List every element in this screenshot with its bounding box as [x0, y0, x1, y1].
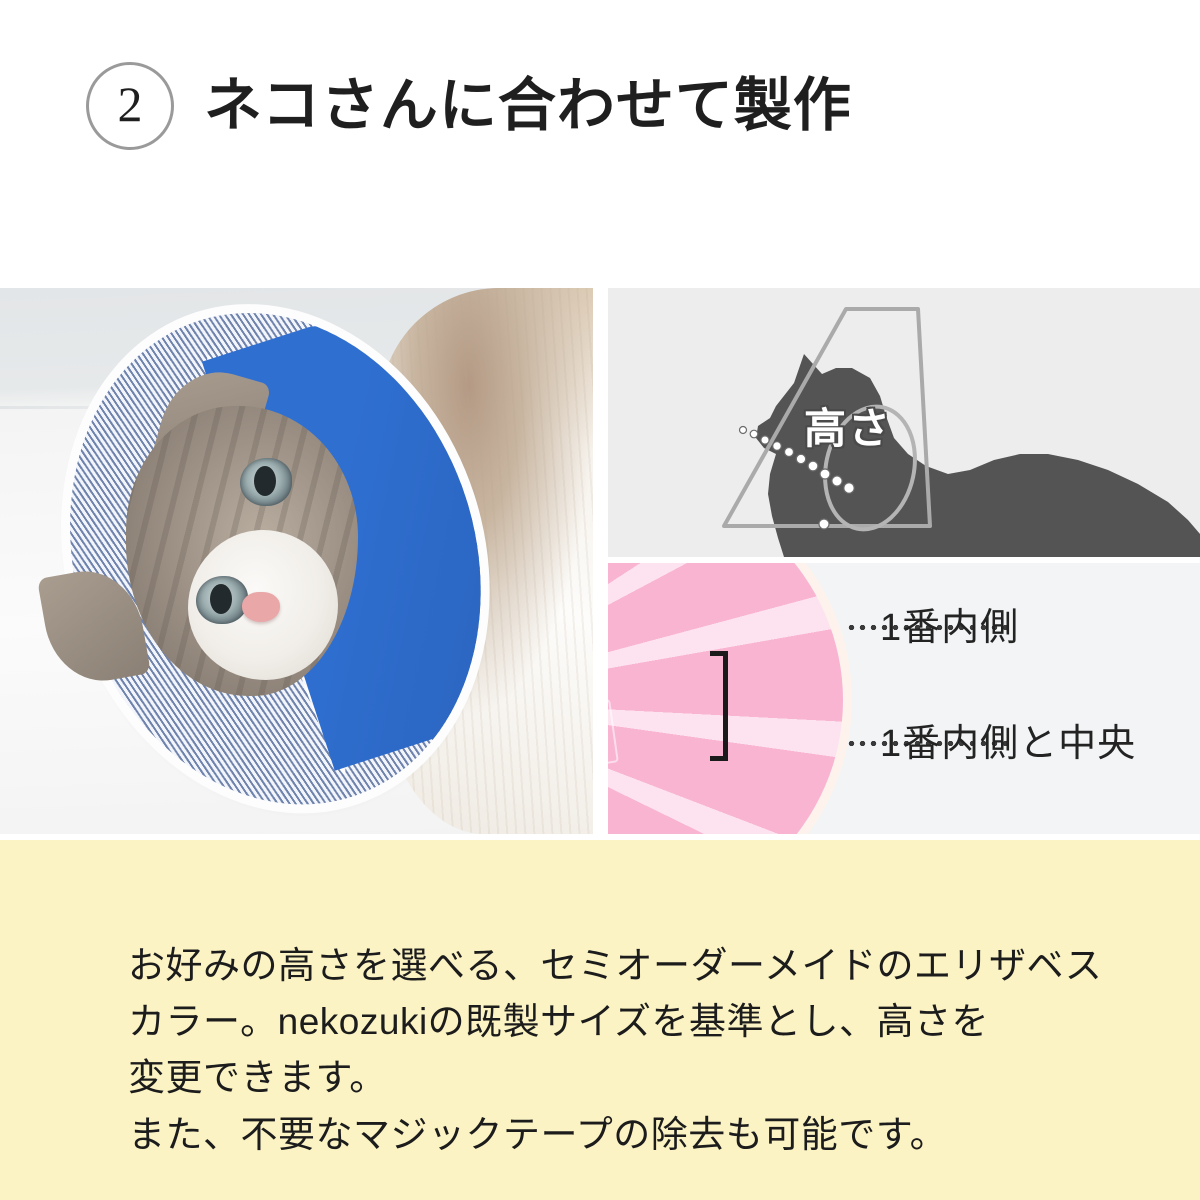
height-label: 高さ [804, 408, 892, 450]
cat-pupil-upper [254, 466, 276, 496]
step-number-badge: 2 [86, 62, 174, 150]
page-title: ネコさんに合わせて製作 [204, 77, 852, 135]
cone-label-inner: 1番内側 [880, 609, 1019, 647]
right-column: 高さ 1番内側 1番内側と中央 [608, 288, 1200, 834]
cat-eye-lower [196, 576, 248, 624]
description-line-2: カラー。nekozukiの既製サイズを基準とし、高さを [128, 994, 1108, 1050]
description-text: お好みの高さを選べる、セミオーダーメイドのエリザベス カラー。nekozukiの… [128, 938, 1108, 1163]
description-line-1: お好みの高さを選べる、セミオーダーメイドのエリザベス [128, 938, 1108, 994]
description-line-4: また、不要なマジックテープの除去も可能です。 [128, 1107, 1108, 1163]
velcro-stitch-outline [608, 699, 619, 780]
cat-silhouette-svg [608, 288, 1200, 557]
cone-label-inner-center: 1番内側と中央 [880, 725, 1136, 763]
description-band: お好みの高さを選べる、セミオーダーメイドのエリザベス カラー。nekozukiの… [0, 840, 1200, 1200]
cat-nose [242, 592, 280, 622]
panels-row: 高さ 1番内側 1番内側と中央 [0, 288, 1200, 834]
cat-head [92, 380, 382, 720]
cone-labels-panel: 1番内側 1番内側と中央 [608, 563, 1200, 834]
silhouette-diagram-panel: 高さ [608, 288, 1200, 557]
page-header: 2 ネコさんに合わせて製作 [0, 0, 1200, 288]
cat-pupil-lower [210, 584, 232, 614]
cat-photo [0, 288, 593, 834]
header-inner: 2 ネコさんに合わせて製作 [86, 62, 852, 150]
step-number-text: 2 [118, 79, 143, 129]
description-line-3: 変更できます。 [128, 1050, 1108, 1106]
range-bracket [710, 651, 728, 761]
cat-eye-upper [240, 458, 292, 506]
